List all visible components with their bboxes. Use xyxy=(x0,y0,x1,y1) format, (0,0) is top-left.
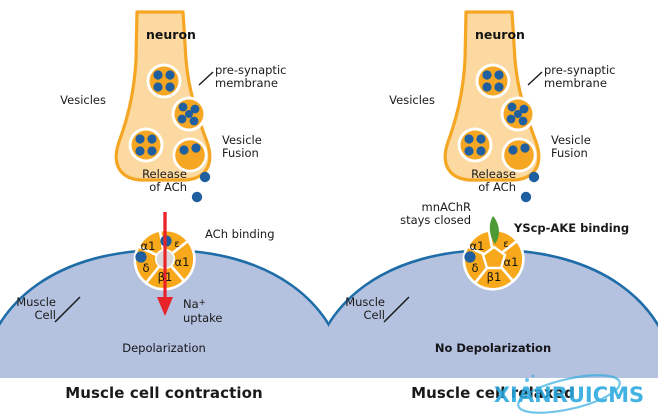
sodium-uptake-word: uptake xyxy=(183,311,222,325)
neuron-label: neuron xyxy=(146,28,196,42)
presynaptic-leader-line xyxy=(199,72,213,85)
muscle-cell-label: Muscle Cell xyxy=(0,296,56,322)
presynaptic-membrane-label: pre-synaptic membrane xyxy=(215,64,286,90)
presynaptic-leader-line xyxy=(528,72,542,85)
subunit-label-delta: δ xyxy=(471,261,478,275)
vesicle-fusion-label: Vesicle Fusion xyxy=(551,134,591,160)
subunit-label-epsilon: ε xyxy=(503,239,508,250)
muscle-cell-label: Muscle Cell xyxy=(319,296,385,322)
presynaptic-membrane-label: pre-synaptic membrane xyxy=(544,64,615,90)
sodium-uptake-ion: Na xyxy=(183,297,199,311)
subunit-label-alpha1-right: α1 xyxy=(504,255,519,269)
vesicle xyxy=(172,97,207,132)
vesicle xyxy=(501,97,536,132)
no-depolarization-label: No Depolarization xyxy=(423,342,563,355)
ach-molecule xyxy=(529,172,539,182)
ach-molecule xyxy=(192,192,202,202)
subunit-label-beta1: β1 xyxy=(158,270,173,284)
subunit-label-alpha1-left: α1 xyxy=(470,239,485,253)
depolarization-label: Depolarization xyxy=(94,342,234,355)
mnachr-closed-label: mnAChR stays closed xyxy=(361,201,471,227)
subunit-label-alpha1-left: α1 xyxy=(141,239,156,253)
panel-caption-left: Muscle cell contraction xyxy=(14,385,314,402)
vesicle xyxy=(476,64,511,99)
release-of-ach-label: Release of ACh xyxy=(70,168,187,194)
vesicles-label: Vesicles xyxy=(329,94,435,107)
ach-molecule xyxy=(521,192,531,202)
release-of-ach-label: Release of ACh xyxy=(399,168,516,194)
subunit-label-beta1: β1 xyxy=(487,270,502,284)
subunit-label-alpha1-right: α1 xyxy=(175,255,190,269)
ach-binding-label: ACh binding xyxy=(205,228,275,241)
panel-muscle-contraction: α1εα1β1δ neuron Vesicles pre-synaptic me… xyxy=(0,0,329,418)
panel-muscle-relaxed: α1εα1β1δ neuron Vesicles pre-synaptic me… xyxy=(329,0,658,418)
vesicle xyxy=(458,128,493,163)
vesicles-label: Vesicles xyxy=(0,94,106,107)
subunit-label-epsilon: ε xyxy=(174,239,179,250)
neuron-label: neuron xyxy=(475,28,525,42)
vesicle xyxy=(147,64,182,99)
yscp-ake-binding-label: YScp-AKE binding xyxy=(514,222,629,235)
subunit-label-delta: δ xyxy=(142,261,149,275)
vesicle-fusion-label: Vesicle Fusion xyxy=(222,134,262,160)
sodium-uptake-label: Na+uptake xyxy=(183,298,222,324)
vesicle xyxy=(129,128,164,163)
sodium-uptake-charge: + xyxy=(199,298,206,308)
diagram-canvas: α1εα1β1δ neuron Vesicles pre-synaptic me… xyxy=(0,0,658,418)
ach-molecule xyxy=(200,172,210,182)
panel-caption-right: Muscle cell relaxed xyxy=(343,385,643,402)
